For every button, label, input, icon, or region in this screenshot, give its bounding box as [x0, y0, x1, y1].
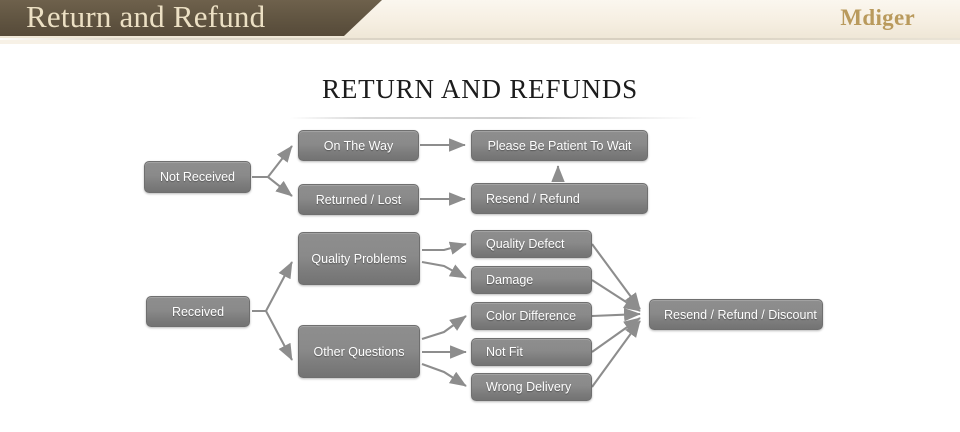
node-other-questions[interactable]: Other Questions — [298, 325, 420, 378]
node-wrong-delivery[interactable]: Wrong Delivery — [471, 373, 592, 401]
node-not-received[interactable]: Not Received — [144, 161, 251, 193]
header-divider — [0, 38, 960, 40]
node-resend-refund-discount[interactable]: Resend / Refund / Discount — [649, 299, 823, 330]
title-divider — [290, 117, 702, 119]
node-color-difference[interactable]: Color Difference — [471, 302, 592, 330]
page-header: Return and Refund Mdiger — [0, 0, 960, 44]
node-on-the-way[interactable]: On The Way — [298, 130, 419, 161]
brand-logo: Mdiger — [840, 3, 915, 33]
node-quality-defect[interactable]: Quality Defect — [471, 230, 592, 258]
header-banner-title: Return and Refund — [26, 0, 265, 35]
return-and-refund-infographic: Return and Refund Mdiger RETURN AND REFU… — [0, 0, 960, 432]
node-damage[interactable]: Damage — [471, 266, 592, 294]
page-title: RETURN AND REFUNDS — [0, 74, 960, 105]
node-quality-problems[interactable]: Quality Problems — [298, 232, 420, 285]
node-not-fit[interactable]: Not Fit — [471, 338, 592, 366]
flow-connectors — [0, 0, 960, 432]
node-resend-refund[interactable]: Resend / Refund — [471, 183, 648, 214]
node-returned-lost[interactable]: Returned / Lost — [298, 184, 419, 215]
node-received[interactable]: Received — [146, 296, 250, 327]
node-please-be-patient-to-wait[interactable]: Please Be Patient To Wait — [471, 130, 648, 161]
